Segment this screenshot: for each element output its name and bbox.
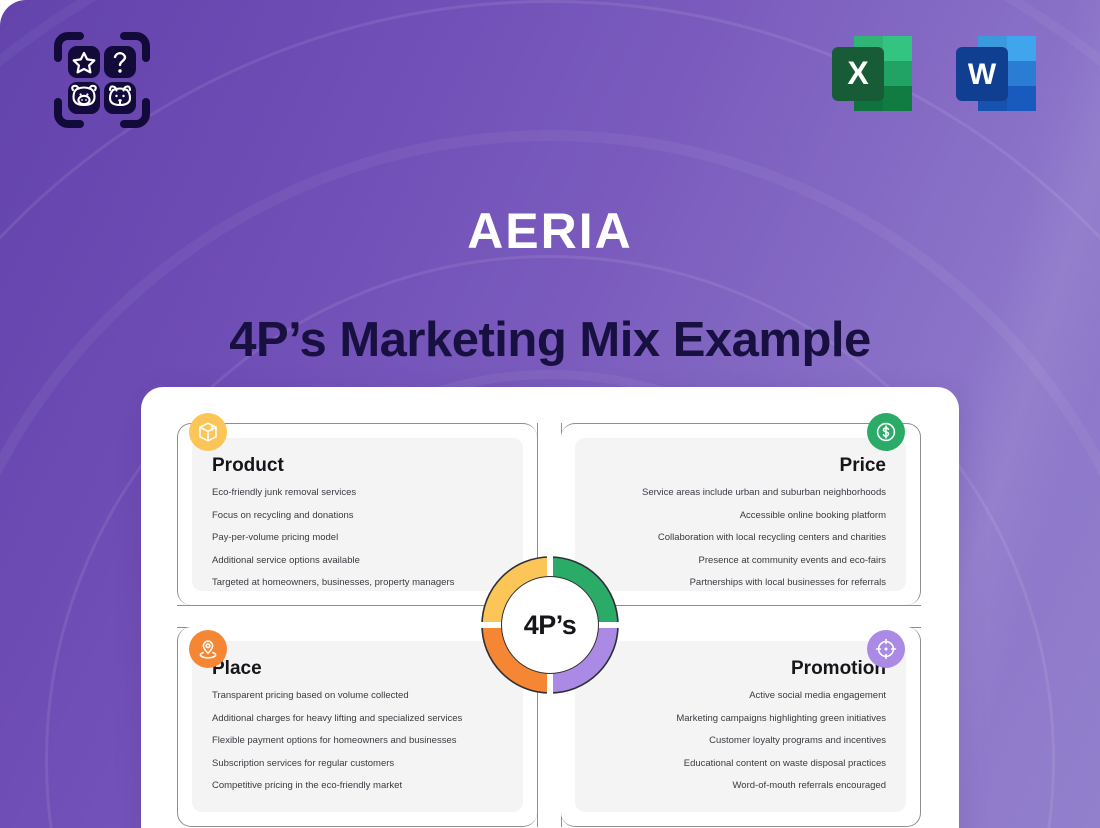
list-item: Flexible payment options for homeowners … <box>212 736 503 746</box>
list-item: Additional service options available <box>212 556 503 566</box>
excel-icon[interactable]: X <box>824 28 920 124</box>
list-item: Focus on recycling and donations <box>212 511 503 521</box>
quadrant-place-title: Place <box>212 659 503 678</box>
office-app-icons: X W <box>824 28 1044 124</box>
list-item: Customer loyalty programs and incentives <box>595 736 886 746</box>
dollar-coin-icon[interactable] <box>867 413 905 451</box>
poster-page: X W AERIA 4P’s Marketing Mix Example <box>0 0 1100 828</box>
svg-text:W: W <box>968 58 997 91</box>
list-item: Partnerships with local businesses for r… <box>595 578 886 588</box>
diagram-card: Product Eco-friendly junk removal servic… <box>141 387 959 828</box>
quadrant-promotion-title: Promotion <box>595 659 886 678</box>
location-pin-icon[interactable] <box>189 630 227 668</box>
list-item: Word-of-mouth referrals encouraged <box>595 781 886 791</box>
package-box-icon[interactable] <box>189 413 227 451</box>
brand-logo[interactable] <box>50 28 154 132</box>
list-item: Transparent pricing based on volume coll… <box>212 691 503 701</box>
quadrant-promotion-list: Active social media engagement Marketing… <box>595 691 886 791</box>
list-item: Collaboration with local recycling cente… <box>595 533 886 543</box>
page-title: 4P’s Marketing Mix Example <box>0 312 1100 368</box>
quadrant-price-list: Service areas include urban and suburban… <box>595 488 886 588</box>
list-item: Eco-friendly junk removal services <box>212 488 503 498</box>
svg-text:X: X <box>847 55 869 91</box>
brand-name: AERIA <box>0 206 1100 256</box>
list-item: Service areas include urban and suburban… <box>595 488 886 498</box>
quadrant-price-title: Price <box>595 456 886 475</box>
list-item: Pay-per-volume pricing model <box>212 533 503 543</box>
qr-pets-logo-icon <box>50 28 154 132</box>
quadrant-place-list: Transparent pricing based on volume coll… <box>212 691 503 791</box>
word-icon[interactable]: W <box>948 28 1044 124</box>
donut-center-label: 4P’s <box>501 576 599 674</box>
list-item: Targeted at homeowners, businesses, prop… <box>212 578 503 588</box>
list-item: Presence at community events and eco-fai… <box>595 556 886 566</box>
donut-chart: 4P’s <box>470 545 630 705</box>
list-item: Active social media engagement <box>595 691 886 701</box>
list-item: Marketing campaigns highlighting green i… <box>595 714 886 724</box>
list-item: Educational content on waste disposal pr… <box>595 759 886 769</box>
quadrant-product-title: Product <box>212 456 503 475</box>
quadrant-product-list: Eco-friendly junk removal services Focus… <box>212 488 503 588</box>
list-item: Subscription services for regular custom… <box>212 759 503 769</box>
list-item: Additional charges for heavy lifting and… <box>212 714 503 724</box>
target-crosshair-icon[interactable] <box>867 630 905 668</box>
list-item: Accessible online booking platform <box>595 511 886 521</box>
list-item: Competitive pricing in the eco-friendly … <box>212 781 503 791</box>
